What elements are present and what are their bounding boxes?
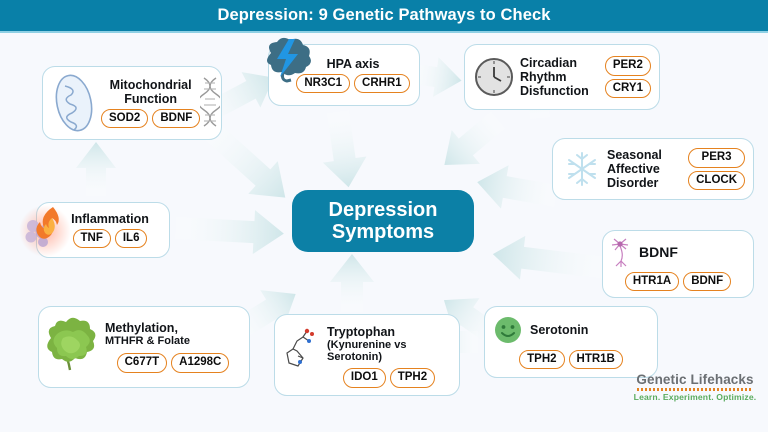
gene-pill-htr1a[interactable]: HTR1A	[625, 272, 679, 291]
gene-pill-col: PER3 CLOCK	[688, 148, 745, 190]
clock-icon	[473, 56, 515, 98]
gene-pill-cry1[interactable]: CRY1	[605, 79, 651, 98]
gene-pill-col: PER2 CRY1	[605, 56, 651, 98]
node-title-mitochondrial: Mitochondrial	[110, 78, 192, 92]
molecule-icon	[283, 325, 323, 373]
node-tryptophan[interactable]: Tryptophan (Kynurenine vs Serotonin) IDO…	[274, 314, 460, 396]
gene-pill-sod2[interactable]: SOD2	[101, 109, 148, 128]
arrow-inflammation-up	[76, 142, 116, 196]
page-title: Depression: 9 Genetic Pathways to Check	[217, 6, 550, 25]
snowflake-icon	[561, 147, 603, 191]
neuron-icon	[611, 237, 633, 269]
gene-pill-bdnf[interactable]: BDNF	[683, 272, 731, 291]
node-title-line3: Disorder	[607, 176, 684, 190]
gene-pill-crhr1[interactable]: CRHR1	[354, 74, 410, 93]
gene-pill-row: SOD2 BDNF	[101, 109, 200, 128]
gene-pill-bdnf[interactable]: BDNF	[152, 109, 200, 128]
node-sub-tryptophan-line1: (Kynurenine vs	[327, 339, 451, 351]
gene-pill-clock[interactable]: CLOCK	[688, 171, 745, 190]
leafy-greens-icon	[39, 316, 101, 378]
gene-pill-il6[interactable]: IL6	[115, 229, 148, 248]
node-inflammation[interactable]: Inflammation TNF IL6	[36, 202, 170, 258]
node-title-hpa-axis: HPA axis	[327, 57, 380, 71]
node-title-line2: Affective	[607, 162, 684, 176]
gene-pill-c677t[interactable]: C677T	[117, 353, 168, 372]
gene-pill-a1298c[interactable]: A1298C	[171, 353, 229, 372]
gene-pill-htr1b[interactable]: HTR1B	[569, 350, 623, 369]
gene-pill-per3[interactable]: PER3	[688, 148, 745, 167]
node-title-line1: Seasonal	[607, 148, 684, 162]
node-seasonal-affective-disorder[interactable]: Seasonal Affective Disorder PER3 CLOCK	[552, 138, 754, 200]
node-title-line3: Disfunction	[520, 84, 600, 98]
logo-divider-dots	[637, 388, 753, 391]
node-bdnf[interactable]: BDNF HTR1A BDNF	[602, 230, 754, 298]
node-circadian-rhythm-disfunction[interactable]: Circadian Rhythm Disfunction PER2 CRY1	[464, 44, 660, 110]
node-title-serotonin: Serotonin	[530, 323, 588, 337]
node-sub-tryptophan-line2: Serotonin)	[327, 351, 451, 363]
center-line-2: Symptoms	[329, 221, 438, 243]
node-title-seasonal: Seasonal Affective Disorder	[607, 148, 684, 190]
arrow-inflammation	[175, 206, 285, 256]
center-node-depression-symptoms[interactable]: Depression Symptoms	[292, 190, 474, 252]
gene-pill-row: IDO1 TPH2	[343, 368, 435, 387]
arrow-bdnf	[490, 232, 609, 290]
gene-pill-row: TPH2 HTR1B	[519, 350, 623, 369]
header-bar: Depression: 9 Genetic Pathways to Check	[0, 0, 768, 31]
dna-helix-icon	[200, 76, 220, 130]
center-line-1: Depression	[329, 199, 438, 221]
gene-pill-per2[interactable]: PER2	[605, 56, 651, 75]
arrow-hpa	[316, 109, 370, 190]
flame-icon	[17, 199, 83, 263]
node-hpa-axis[interactable]: HPA axis NR3C1 CRHR1	[268, 44, 420, 106]
node-sub-methylation: MTHFR & Folate	[105, 335, 241, 347]
node-title-line1: Circadian	[520, 56, 600, 70]
arrow-tryptophan	[330, 254, 374, 312]
node-title-methylation: Methylation,	[105, 321, 241, 335]
node-title2-mitochondrial: Function	[110, 92, 192, 106]
brand-logo: Genetic Lifehacks Learn. Experiment. Opt…	[627, 372, 763, 402]
node-methylation-mthfr-folate[interactable]: Methylation, MTHFR & Folate C677T A1298C	[38, 306, 250, 388]
gene-pill-row: TNF IL6	[73, 229, 148, 248]
gene-pill-row: C677T A1298C	[117, 353, 230, 372]
mitochondria-icon	[51, 72, 97, 134]
logo-name: Genetic Lifehacks	[627, 372, 763, 387]
gene-pill-tph2[interactable]: TPH2	[390, 368, 435, 387]
node-title-line2: Rhythm	[520, 70, 600, 84]
gene-pill-ido1[interactable]: IDO1	[343, 368, 386, 387]
node-title-bdnf: BDNF	[639, 245, 678, 261]
gene-pill-tph2[interactable]: TPH2	[519, 350, 564, 369]
node-title-circadian: Circadian Rhythm Disfunction	[520, 56, 600, 98]
brain-lightning-icon	[257, 37, 315, 91]
arrow-seasonal	[473, 160, 559, 217]
smiley-face-icon	[493, 315, 523, 345]
header-divider	[0, 31, 768, 33]
center-node-label: Depression Symptoms	[329, 199, 438, 244]
infographic-canvas: Depression: 9 Genetic Pathways to Check …	[0, 0, 768, 432]
node-serotonin[interactable]: Serotonin TPH2 HTR1B	[484, 306, 658, 378]
node-mitochondrial-function[interactable]: Mitochondrial Function SOD2 BDNF	[42, 66, 222, 140]
node-title-tryptophan: Tryptophan	[327, 325, 451, 339]
logo-tagline: Learn. Experiment. Optimize.	[627, 392, 763, 402]
gene-pill-row: HTR1A BDNF	[625, 272, 731, 291]
